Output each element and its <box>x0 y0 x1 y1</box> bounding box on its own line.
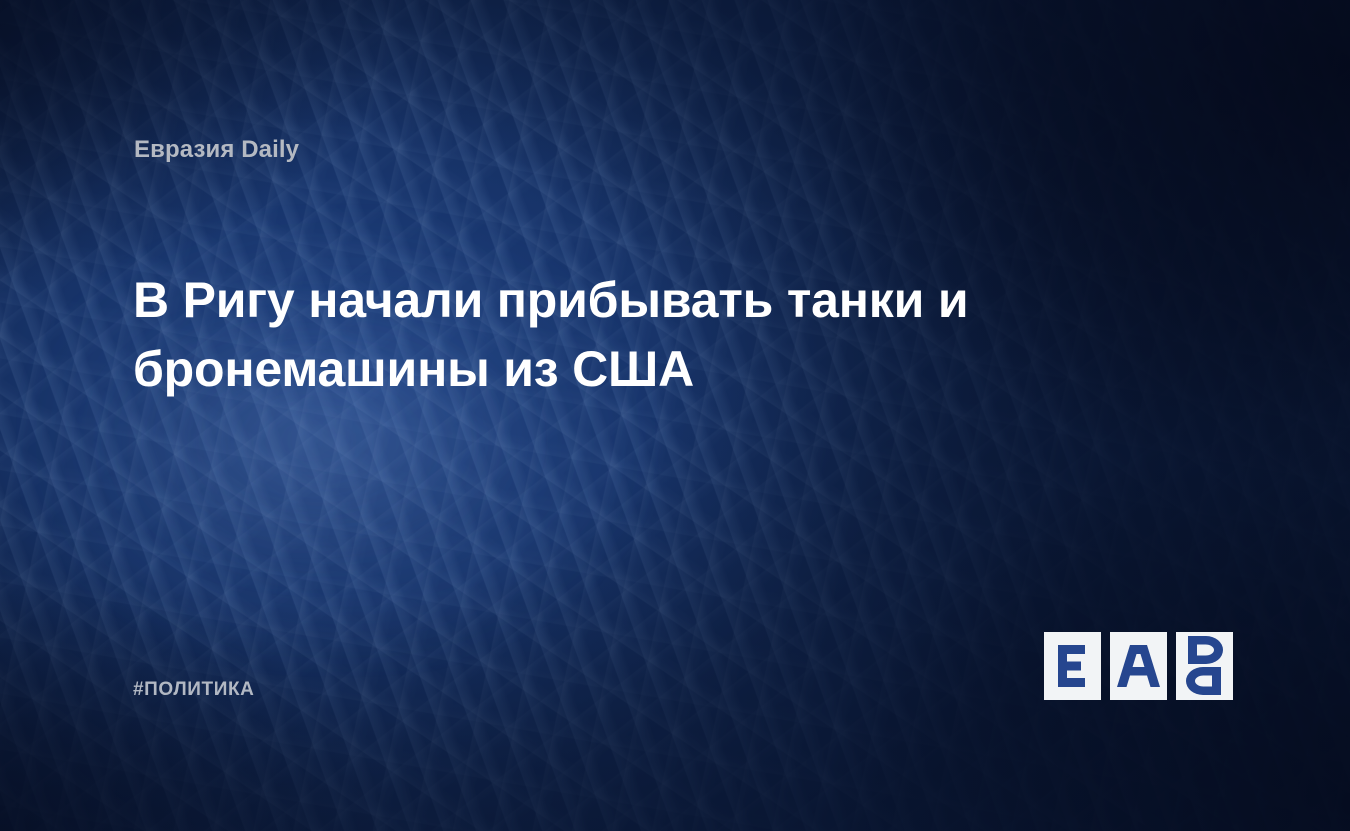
page-title: В Ригу начали прибывать танки и бронемаш… <box>133 266 1033 404</box>
card-content: Евразия Daily В Ригу начали прибывать та… <box>0 0 1350 831</box>
brand-title: Евразия Daily <box>134 136 299 164</box>
letter-d-split-tile-icon <box>1176 632 1233 700</box>
news-share-card: Евразия Daily В Ригу начали прибывать та… <box>0 0 1350 831</box>
letter-a-tile-icon <box>1110 632 1167 700</box>
category-tag: #ПОЛИТИКА <box>133 679 255 701</box>
letter-e-tile-icon <box>1044 632 1101 700</box>
eadaily-logo <box>1044 632 1233 700</box>
